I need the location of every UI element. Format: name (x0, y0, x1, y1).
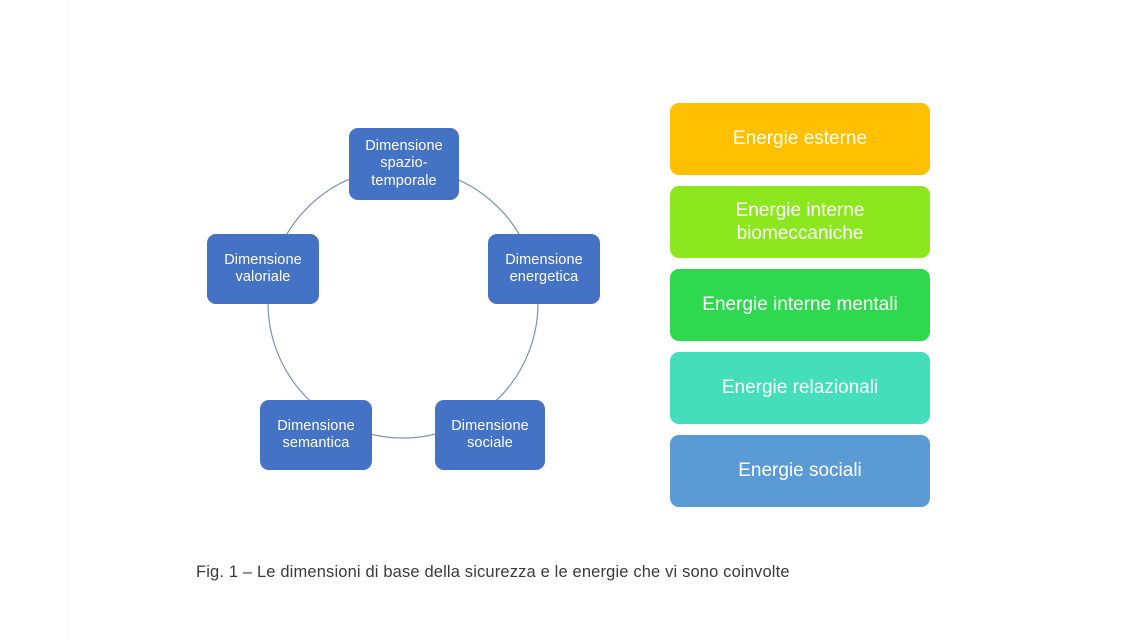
energy-bar-interne-mentali[interactable]: Energie interne mentali (670, 269, 930, 341)
cycle-diagram: Dimensione spazio- temporale Dimensione … (190, 100, 620, 500)
node-dimensione-spazio-temporale[interactable]: Dimensione spazio- temporale (349, 128, 459, 200)
node-dimensione-sociale[interactable]: Dimensione sociale (435, 400, 545, 470)
node-label: Dimensione energetica (505, 252, 583, 286)
energy-bar-esterne[interactable]: Energie esterne (670, 103, 930, 175)
energy-bar-label: Energie sociali (738, 459, 862, 482)
node-label: Dimensione sociale (451, 418, 529, 452)
energy-bar-interne-biomeccaniche[interactable]: Energie interne biomeccaniche (670, 186, 930, 258)
node-dimensione-energetica[interactable]: Dimensione energetica (488, 234, 600, 304)
energy-bar-relazionali[interactable]: Energie relazionali (670, 352, 930, 424)
node-dimensione-valoriale[interactable]: Dimensione valoriale (207, 234, 319, 304)
energy-bar-label: Energie interne biomeccaniche (736, 199, 865, 245)
energy-bar-label: Energie relazionali (722, 376, 878, 399)
energy-list: Energie esterne Energie interne biomecca… (670, 103, 930, 507)
energy-bar-label: Energie interne mentali (702, 293, 897, 316)
slide-canvas: Dimensione spazio- temporale Dimensione … (0, 0, 1138, 640)
node-label: Dimensione spazio- temporale (365, 138, 443, 189)
energy-bar-sociali[interactable]: Energie sociali (670, 435, 930, 507)
node-label: Dimensione valoriale (224, 252, 302, 286)
node-dimensione-semantica[interactable]: Dimensione semantica (260, 400, 372, 470)
energy-bar-label: Energie esterne (733, 127, 867, 150)
node-label: Dimensione semantica (277, 418, 355, 452)
figure-caption: Fig. 1 – Le dimensioni di base della sic… (196, 563, 790, 582)
left-margin-guide (66, 0, 69, 640)
